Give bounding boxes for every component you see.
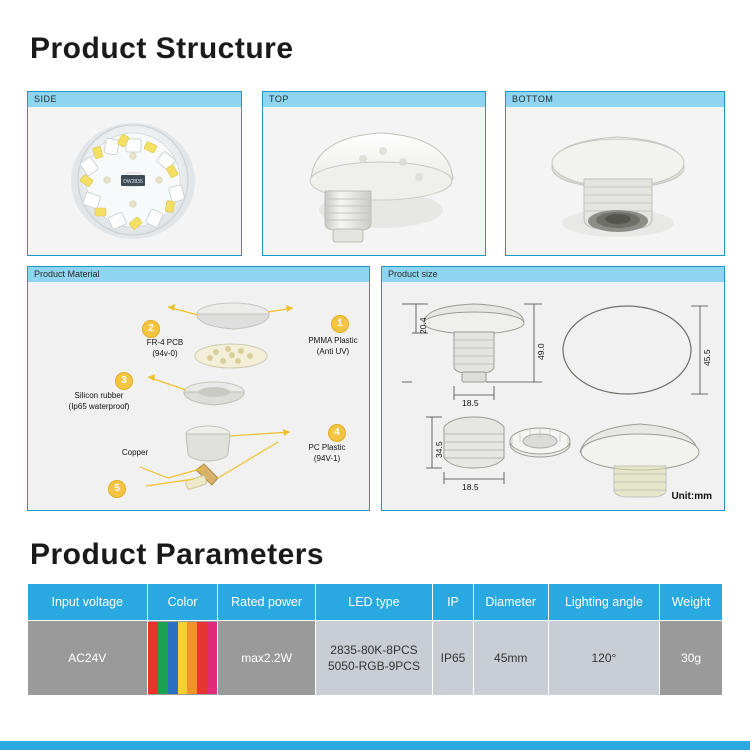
label-material-4: PC Plastic (94V-1) [290, 442, 364, 464]
page-title-parameters: Product Parameters [30, 538, 324, 572]
photo-panel-bottom: BOTTOM [505, 91, 725, 256]
th-ip: IP [433, 584, 474, 621]
photo-body-top [263, 107, 485, 255]
dim-diameter: 45.5 [702, 349, 712, 366]
photo-body-bottom [506, 107, 724, 255]
color-swatch [178, 622, 188, 694]
size-body: 20.4 49.0 18.5 34.5 18.5 45.5 Unit:mm [382, 282, 724, 510]
th-weight: Weight [660, 584, 723, 621]
color-swatch [168, 622, 178, 694]
panel-product-material: Product Material [27, 266, 370, 511]
label-material-3: Silicon rubber (Ip65 waterproof) [44, 390, 154, 412]
photo-caption-bottom: BOTTOM [506, 92, 724, 107]
side-view-image: DW2835 [28, 107, 239, 253]
callout-3: 3 [115, 372, 133, 390]
callout-5: 5 [108, 480, 126, 498]
dim-top-width: 18.5 [462, 398, 479, 408]
color-swatch [187, 622, 197, 694]
led-type-line-1: 2835-80K-8PCS [317, 642, 432, 658]
color-swatch [148, 622, 158, 694]
td-diameter: 45mm [473, 621, 548, 696]
td-weight: 30g [660, 621, 723, 696]
caption-product-material: Product Material [28, 267, 369, 282]
table-header-row: Input voltage Color Rated power LED type… [28, 584, 723, 621]
page-title-structure: Product Structure [30, 32, 294, 66]
bottom-view-image [506, 107, 722, 253]
photo-caption-top: TOP [263, 92, 485, 107]
bottom-accent-bar [0, 741, 750, 750]
led-type-line-2: 5050-RGB-9PCS [317, 658, 432, 674]
color-swatch [197, 622, 207, 694]
callout-4: 4 [328, 424, 346, 442]
label-material-2: FR-4 PCB (94v-0) [128, 337, 202, 359]
dim-top-height: 20.4 [418, 317, 428, 334]
th-color: Color [147, 584, 218, 621]
material-body: 1 2 3 4 5 PMMA Plastic (Anti UV) FR-4 PC… [28, 282, 369, 510]
callout-2: 2 [142, 320, 160, 338]
dim-bottom-height: 34.5 [434, 441, 444, 458]
caption-product-size: Product size [382, 267, 724, 282]
photo-panel-top: TOP [262, 91, 486, 256]
panel-product-size: Product size [381, 266, 725, 511]
svg-text:DW2835: DW2835 [123, 179, 143, 185]
page-root: Product Structure SIDE [0, 0, 750, 750]
photo-caption-side: SIDE [28, 92, 241, 107]
th-lighting-angle: Lighting angle [548, 584, 659, 621]
th-diameter: Diameter [473, 584, 548, 621]
table-row: AC24V max2.2W 2835-80K-8PCS 5050-RGB-9PC… [28, 621, 723, 696]
photo-body-side: DW2835 [28, 107, 241, 255]
dim-bottom-width: 18.5 [462, 482, 479, 492]
th-led-type: LED type [315, 584, 433, 621]
color-swatch [158, 622, 168, 694]
th-input-voltage: Input voltage [28, 584, 148, 621]
td-led-type: 2835-80K-8PCS 5050-RGB-9PCS [315, 621, 433, 696]
photo-panel-side: SIDE [27, 91, 242, 256]
dimension-drawing [382, 282, 722, 508]
label-material-5: Copper [98, 447, 172, 458]
unit-label: Unit:mm [671, 491, 712, 502]
top-view-image [263, 107, 483, 253]
color-swatch [207, 622, 217, 694]
td-color [147, 621, 218, 696]
td-ip: IP65 [433, 621, 474, 696]
td-rated-power: max2.2W [218, 621, 315, 696]
th-rated-power: Rated power [218, 584, 315, 621]
dim-total-height: 49.0 [536, 343, 546, 360]
callout-1: 1 [331, 315, 349, 333]
color-swatch-strip [148, 622, 218, 694]
td-input-voltage: AC24V [28, 621, 148, 696]
parameters-table: Input voltage Color Rated power LED type… [27, 583, 723, 696]
label-material-1: PMMA Plastic (Anti UV) [290, 335, 376, 357]
td-lighting-angle: 120° [548, 621, 659, 696]
